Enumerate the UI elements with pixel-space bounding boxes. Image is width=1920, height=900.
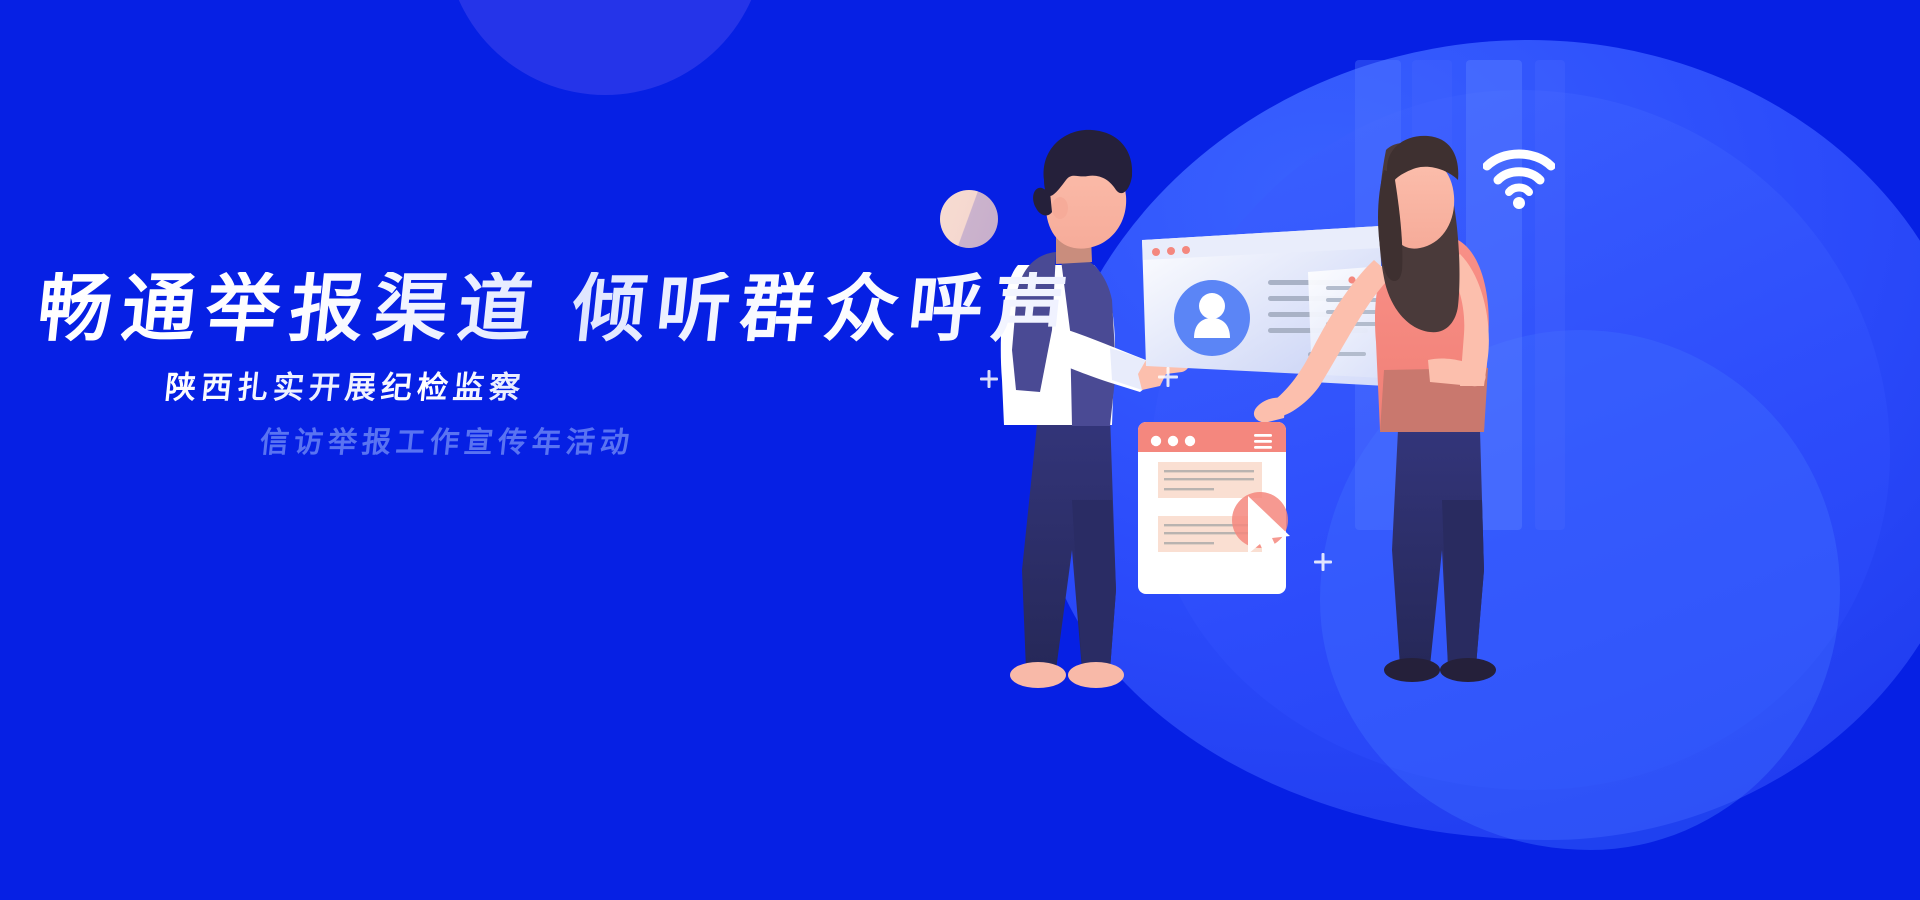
banner-subtitle-line2: 信访举报工作宣传年活动 [258,427,635,459]
browser-text-line [1164,488,1214,490]
profile-avatar-head [1199,293,1225,319]
man-ear [1052,197,1068,219]
browser-text-line [1164,542,1214,544]
card-dot [1167,247,1175,255]
woman-hand-left [1254,397,1286,422]
man-figure [1001,130,1189,688]
wifi-icon [1483,148,1555,210]
plus-mark [1158,367,1178,387]
man-shoe-left [1010,662,1066,688]
plus-mark [1314,553,1332,571]
illustration-svg [960,30,1920,730]
browser-dot [1151,436,1161,446]
woman-figure [1254,136,1496,682]
plus-mark [980,370,998,388]
man-shoe-right [1068,662,1124,688]
banner-headline: 畅通举报渠道 倾听群众呼声 [34,272,1080,346]
browser-dot [1185,436,1195,446]
woman-shoe-left [1384,658,1440,682]
promo-banner: 畅通举报渠道 倾听群众呼声 陕西扎实开展纪检监察 信访举报工作宣传年活动 [0,0,1920,900]
browser-text-line [1164,478,1254,480]
card-dot [1182,246,1190,254]
banner-subtitle-line1: 陕西扎实开展纪检监察 [163,371,527,405]
browser-window [1138,422,1290,594]
woman-shoe-right [1440,658,1496,682]
man-hair-side [1033,188,1052,216]
browser-text-line [1164,470,1254,472]
woman-leg-shade [1442,500,1484,666]
browser-dot [1168,436,1178,446]
card-dot [1152,248,1160,256]
man-leg-shade [1072,500,1116,670]
hamburger-menu-icon [1254,434,1272,449]
